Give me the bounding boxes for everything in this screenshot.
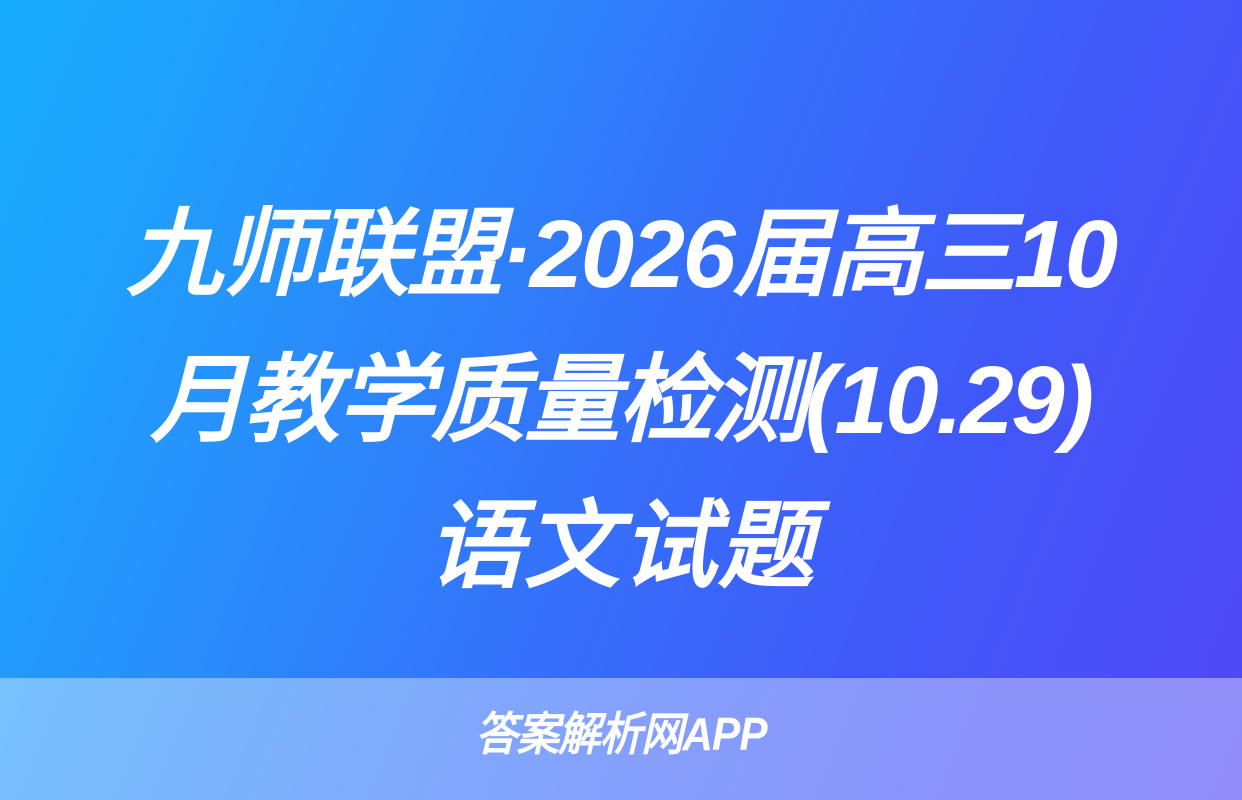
watermark-brand-label: 答案解析网APP bbox=[50, 706, 1193, 762]
title-line-3: 语文试题 bbox=[80, 474, 1162, 620]
title-line-1: 九师联盟·2026届高三10 bbox=[80, 182, 1162, 328]
title-line-2: 月教学质量检测(10.29) bbox=[80, 328, 1162, 474]
exam-cover-card: 九师联盟·2026届高三10 月教学质量检测(10.29) 语文试题 答案解析网… bbox=[0, 0, 1242, 800]
page-title: 九师联盟·2026届高三10 月教学质量检测(10.29) 语文试题 bbox=[80, 182, 1162, 620]
